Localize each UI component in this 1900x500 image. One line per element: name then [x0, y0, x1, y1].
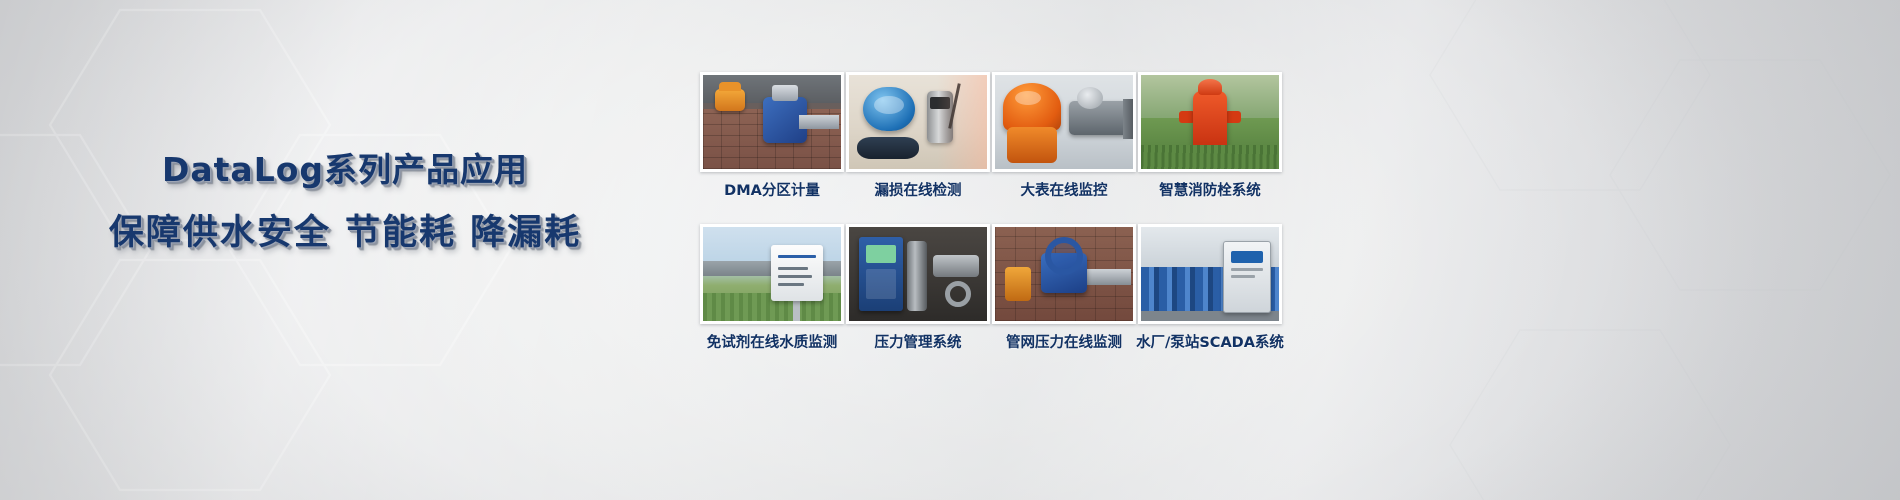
- grid-item-pressure-management[interactable]: 压力管理系统: [846, 224, 990, 338]
- grid-item-scada-system[interactable]: 水厂/泵站SCADA系统: [1138, 224, 1282, 338]
- headline-line-2: 保障供水安全 节能耗 降漏耗: [0, 212, 690, 254]
- grid-item-leak-detection[interactable]: 漏损在线检测: [846, 72, 990, 186]
- reagent-free-water-quality-photo[interactable]: [700, 224, 844, 324]
- product-application-grid: DMA分区计量 漏损在线检测 大表在线监控 智慧消防栓系统 免试剂在线水质监测: [700, 72, 1282, 338]
- smart-hydrant-photo[interactable]: [1138, 72, 1282, 172]
- grid-item-large-meter-monitoring[interactable]: 大表在线监控: [992, 72, 1136, 186]
- leak-detection-photo[interactable]: [846, 72, 990, 172]
- grid-item-smart-hydrant[interactable]: 智慧消防栓系统: [1138, 72, 1282, 186]
- pressure-management-photo[interactable]: [846, 224, 990, 324]
- large-meter-monitoring-photo[interactable]: [992, 72, 1136, 172]
- promo-banner: DataLog系列产品应用 保障供水安全 节能耗 降漏耗 DMA分区计量 漏损在…: [0, 0, 1900, 500]
- pipe-network-pressure-photo[interactable]: [992, 224, 1136, 324]
- grid-item-water-quality[interactable]: 免试剂在线水质监测: [700, 224, 844, 338]
- grid-item-caption: 智慧消防栓系统: [1112, 182, 1308, 200]
- grid-item-dma-metering[interactable]: DMA分区计量: [700, 72, 844, 186]
- grid-item-caption: 水厂/泵站SCADA系统: [1112, 334, 1308, 352]
- scada-system-photo[interactable]: [1138, 224, 1282, 324]
- headline-block: DataLog系列产品应用 保障供水安全 节能耗 降漏耗: [0, 150, 690, 254]
- headline-line-1: DataLog系列产品应用: [0, 150, 690, 190]
- dma-metering-photo[interactable]: [700, 72, 844, 172]
- grid-item-pipe-network-pressure[interactable]: 管网压力在线监测: [992, 224, 1136, 338]
